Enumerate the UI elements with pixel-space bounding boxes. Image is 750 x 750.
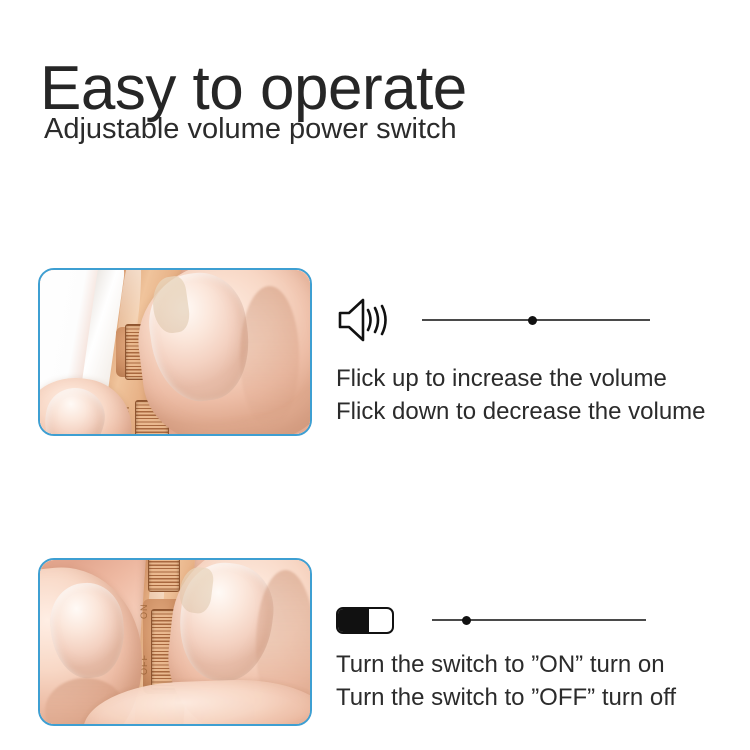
finger-crease [240,286,299,427]
volume-caption-line-2: Flick down to decrease the volume [336,395,706,428]
volume-captions: Flick up to increase the volume Flick do… [336,362,706,428]
toggle-switch-icon[interactable] [336,596,394,644]
volume-slider[interactable] [422,313,650,327]
device-on-label: ON [139,604,149,620]
volume-slider-thumb[interactable] [528,316,537,325]
volume-photo: ON [40,270,310,434]
power-photo: ON OFF [40,560,310,724]
power-toggle[interactable] [336,607,394,634]
power-slider[interactable] [432,613,646,627]
power-control-row [336,596,646,644]
power-caption-line-1: Turn the switch to ”ON” turn on [336,648,676,681]
volume-caption-line-1: Flick up to increase the volume [336,362,706,395]
power-photo-panel: ON OFF [38,558,312,726]
speaker-volume-icon [336,296,394,344]
volume-photo-panel: ON [38,268,312,436]
power-toggle-fill [338,609,369,632]
volume-wheel [148,560,180,592]
power-captions: Turn the switch to ”ON” turn on Turn the… [336,648,676,714]
power-caption-line-2: Turn the switch to ”OFF” turn off [336,681,676,714]
page-subtitle: Adjustable volume power switch [44,112,457,147]
volume-control-row [336,296,650,344]
power-slider-thumb[interactable] [462,616,471,625]
